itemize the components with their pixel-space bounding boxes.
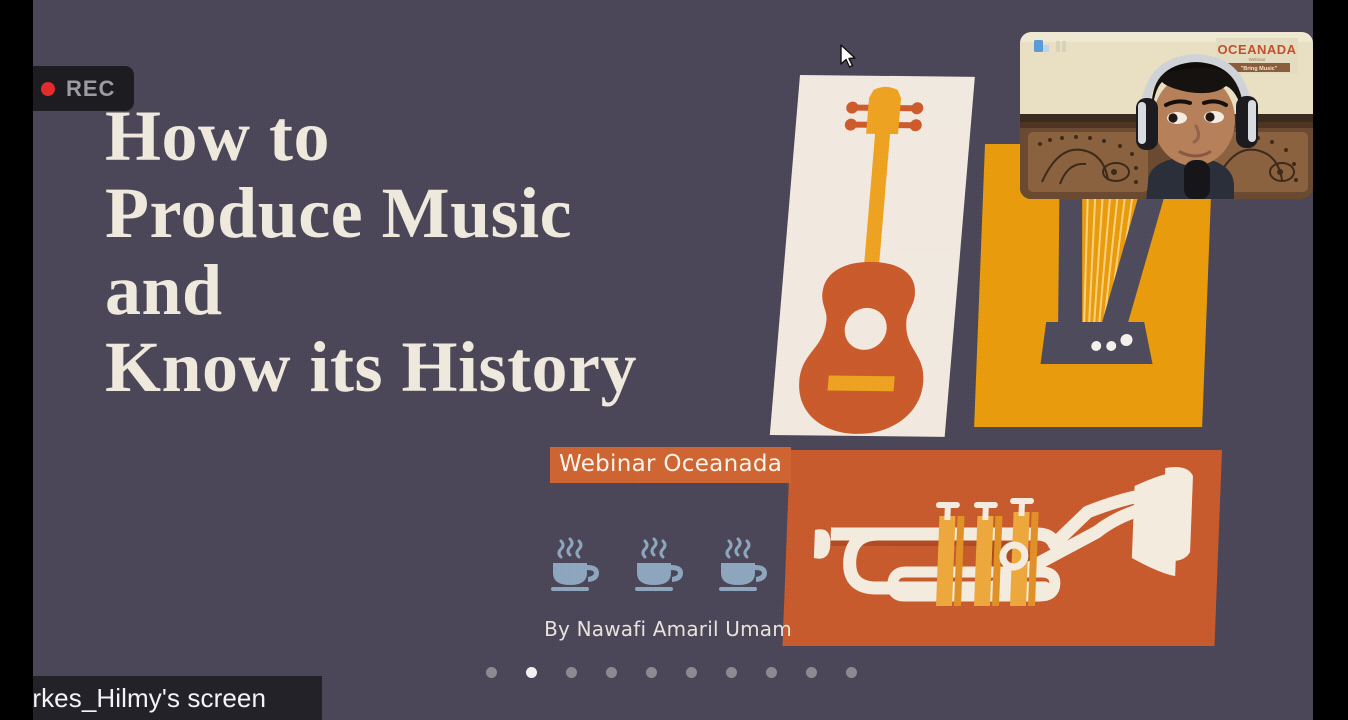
coffee-cup-icon xyxy=(709,533,771,595)
svg-text:OCEANADA: OCEANADA xyxy=(1217,42,1296,57)
recording-badge[interactable]: REC xyxy=(25,66,134,111)
svg-text:Webinar: Webinar xyxy=(1249,57,1266,62)
pagination-dot-1[interactable] xyxy=(486,667,497,678)
webinar-tag: Webinar Oceanada xyxy=(550,447,791,483)
guitar-panel xyxy=(770,75,975,437)
pagination-dot-5[interactable] xyxy=(646,667,657,678)
letterbox-left xyxy=(0,0,33,720)
recording-label: REC xyxy=(66,76,115,102)
letterbox-right xyxy=(1313,0,1348,720)
screen-share-label-text: Orkes_Hilmy's screen xyxy=(12,683,266,714)
pagination-dot-10[interactable] xyxy=(846,667,857,678)
pagination-dot-2[interactable] xyxy=(526,667,537,678)
coffee-cup-icon xyxy=(541,533,603,595)
pagination-dot-4[interactable] xyxy=(606,667,617,678)
record-dot-icon xyxy=(41,82,55,96)
svg-text:"Bring Music": "Bring Music" xyxy=(1241,66,1278,72)
pagination-dot-6[interactable] xyxy=(686,667,697,678)
slide-title: How to Produce Music and Know its Histor… xyxy=(105,98,765,406)
screen-share-viewport: How to Produce Music and Know its Histor… xyxy=(0,0,1348,720)
coffee-cup-icon xyxy=(625,533,687,595)
pagination-dot-9[interactable] xyxy=(806,667,817,678)
slide-byline: By Nawafi Amaril Umam xyxy=(533,617,803,641)
pagination-dot-8[interactable] xyxy=(766,667,777,678)
trumpet-illustration xyxy=(812,467,1193,606)
pagination-dot-3[interactable] xyxy=(566,667,577,678)
slide-pagination[interactable] xyxy=(486,663,926,681)
trumpet-panel xyxy=(782,450,1222,646)
screen-share-label: Orkes_Hilmy's screen xyxy=(0,676,322,720)
pagination-dot-7[interactable] xyxy=(726,667,737,678)
presenter-webcam-thumbnail[interactable]: OCEANADA Webinar "Bring Music" xyxy=(1020,32,1313,199)
coffee-cup-row xyxy=(541,533,771,595)
guitar-illustration xyxy=(795,86,948,434)
